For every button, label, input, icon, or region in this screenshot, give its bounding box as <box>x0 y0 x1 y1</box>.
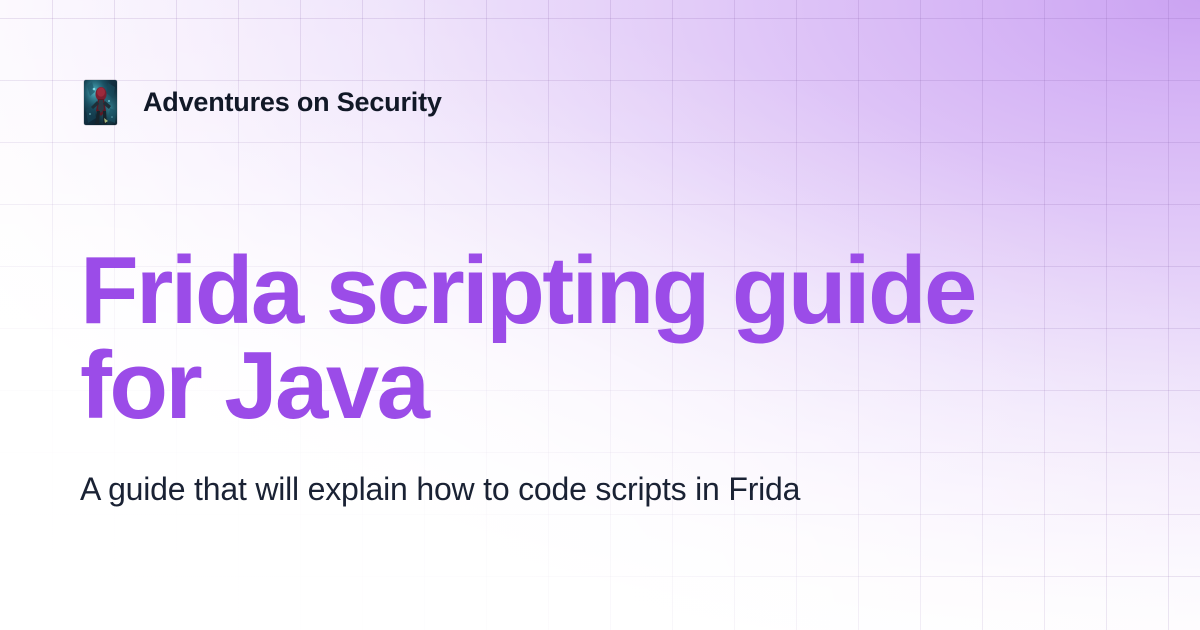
page-subtitle: A guide that will explain how to code sc… <box>80 470 840 508</box>
page-title: Frida scripting guide for Java <box>80 243 1090 433</box>
card-content: Adventures on Security Frida scripting g… <box>0 0 1200 630</box>
site-header[interactable]: Adventures on Security <box>84 80 442 125</box>
site-avatar-artwork-icon <box>84 80 117 125</box>
open-graph-card: Adventures on Security Frida scripting g… <box>0 0 1200 630</box>
site-name-label: Adventures on Security <box>143 87 442 118</box>
